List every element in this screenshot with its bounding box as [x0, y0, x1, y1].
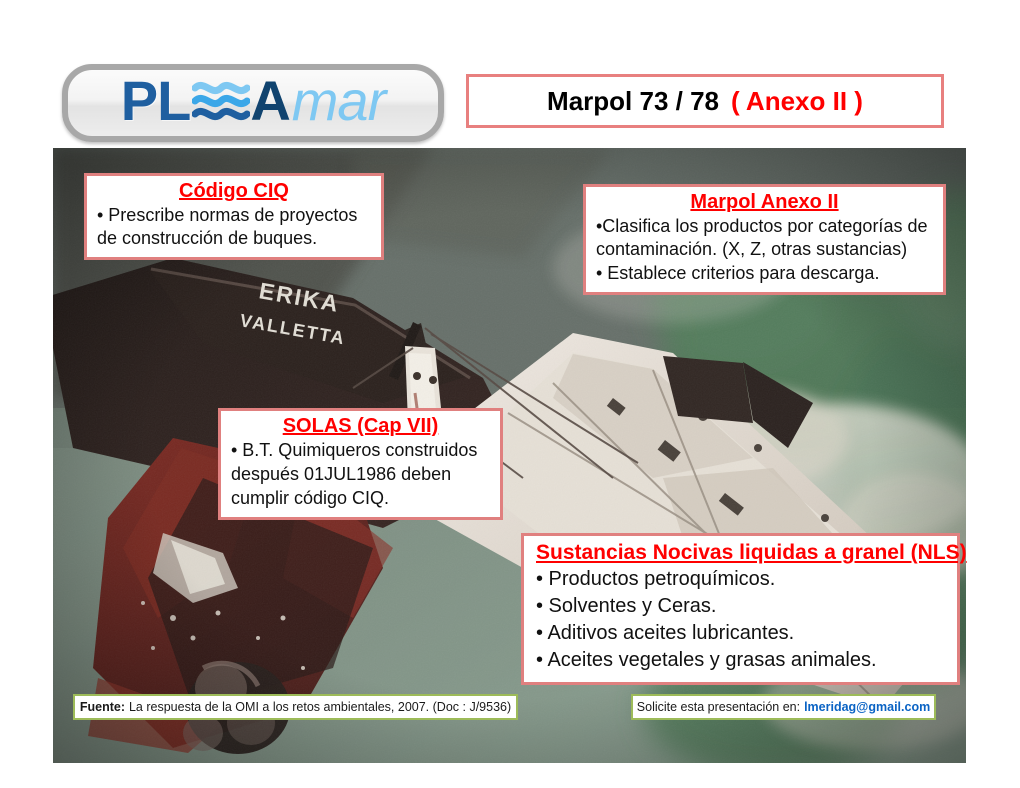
- title-annex: ( Anexo II ): [731, 86, 863, 116]
- callout-line: contaminación. (X, Z, otras sustancias): [596, 238, 933, 261]
- contact-email-link[interactable]: lmeridag@gmail.com: [804, 700, 930, 714]
- callout-title-solas: SOLAS (Cap VII): [231, 415, 490, 438]
- callout-title-nls: Sustancias Nocivas liquidas a granel (NL…: [536, 541, 945, 565]
- callout-line: • Aditivos aceites lubricantes.: [536, 620, 945, 647]
- callout-line: •Clasifica los productos por categorías …: [596, 215, 933, 238]
- callout-sustancias-nocivas-nls[interactable]: Sustancias Nocivas liquidas a granel (NL…: [521, 533, 960, 685]
- callout-line: • Establece criterios para descarga.: [596, 262, 933, 285]
- logo-text-mar: mar: [292, 73, 385, 129]
- slide-title-box: Marpol 73 / 78( Anexo II ): [466, 74, 944, 128]
- callout-line: cumplir código CIQ.: [231, 487, 490, 511]
- callout-marpol-anexo-ii[interactable]: Marpol Anexo II •Clasifica los productos…: [583, 184, 946, 295]
- callout-line: • Prescribe normas de proyectos: [97, 204, 371, 227]
- logo-inner: PL A mar: [68, 70, 438, 136]
- slide-header: PL A mar Marpol 73 / 78( Anexo II ): [0, 0, 1020, 148]
- logo-text-pl: PL: [121, 73, 191, 129]
- title-main: Marpol 73 / 78: [547, 86, 719, 116]
- source-text: La respuesta de la OMI a los retos ambie…: [129, 700, 511, 714]
- callout-line: • Solventes y Ceras.: [536, 593, 945, 620]
- callout-line: • B.T. Quimiqueros construidos: [231, 439, 490, 463]
- source-label: Fuente:: [80, 700, 125, 714]
- callout-codigo-ciq[interactable]: Código CIQ • Prescribe normas de proyect…: [84, 173, 384, 260]
- contact-text: Solicite esta presentación en:: [637, 700, 800, 714]
- callout-title-ciq: Código CIQ: [97, 180, 371, 203]
- callout-line: • Aceites vegetales y grasas animales.: [536, 647, 945, 674]
- logo-text-a: A: [250, 73, 290, 129]
- callout-line: después 01JUL1986 deben: [231, 463, 490, 487]
- page-title: Marpol 73 / 78( Anexo II ): [547, 86, 863, 117]
- wave-icon: [192, 75, 250, 127]
- source-note: Fuente:La respuesta de la OMI a los reto…: [73, 694, 518, 720]
- contact-note[interactable]: Solicite esta presentación en:lmeridag@g…: [631, 694, 936, 720]
- pleamar-logo: PL A mar: [62, 64, 444, 142]
- callout-line: de construcción de buques.: [97, 227, 371, 250]
- callout-line: • Productos petroquímicos.: [536, 566, 945, 593]
- callout-solas-cap-vii[interactable]: SOLAS (Cap VII) • B.T. Quimiqueros const…: [218, 408, 503, 520]
- callout-title-anexo: Marpol Anexo II: [596, 191, 933, 214]
